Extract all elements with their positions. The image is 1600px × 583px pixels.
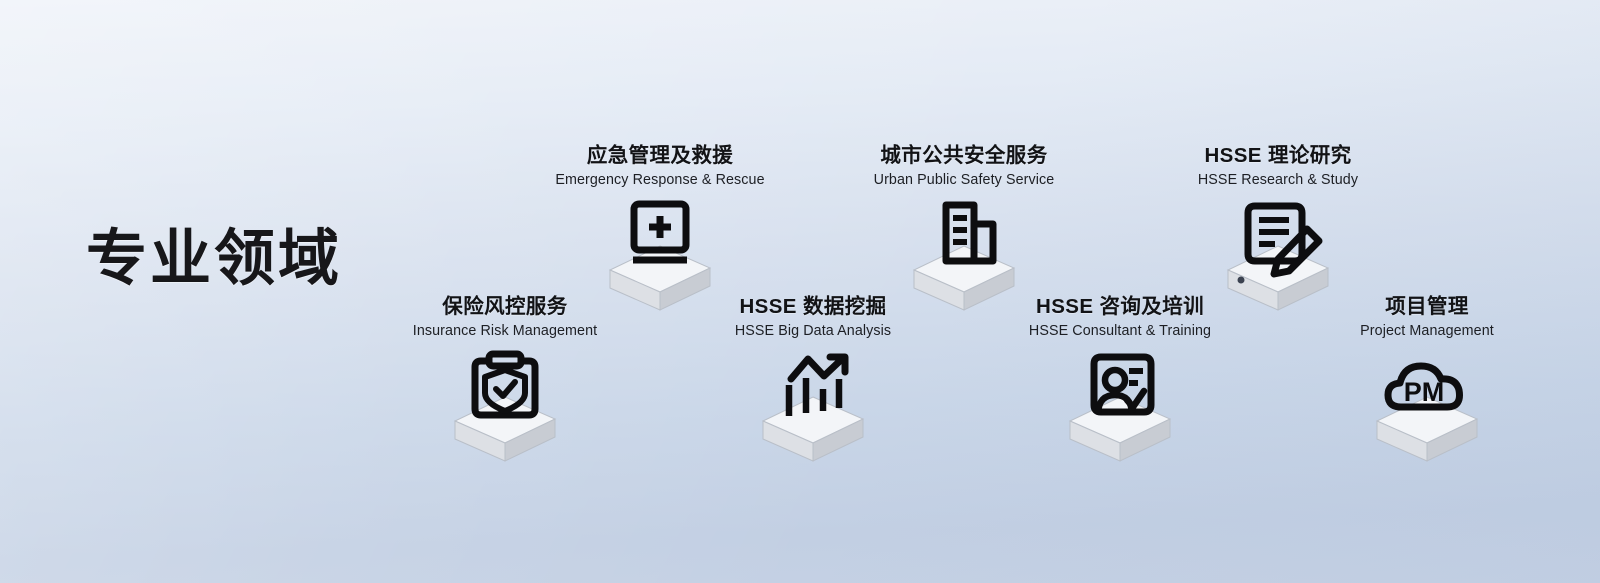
- domain-label-cn: HSSE 数据挖掘: [663, 295, 963, 319]
- domain-label-cn: 项目管理: [1277, 295, 1577, 319]
- domain-labels: HSSE 理论研究 HSSE Research & Study: [1128, 144, 1428, 190]
- trend-arrow-symbol: [791, 357, 845, 379]
- domain-labels: 项目管理 Project Management: [1277, 295, 1577, 341]
- domain-card-hsse-research-study[interactable]: HSSE 理论研究 HSSE Research & Study: [1128, 144, 1428, 310]
- first-aid-symbol: [634, 204, 686, 250]
- domain-label-en: HSSE Consultant & Training: [970, 322, 1270, 341]
- domain-card-urban-public-safety-service[interactable]: 城市公共安全服务 Urban Public Safety Service: [814, 144, 1114, 310]
- check-symbol: [1127, 391, 1144, 407]
- domain-card-hsse-consultant-training[interactable]: HSSE 咨询及培训 HSSE Consultant & Training: [970, 295, 1270, 461]
- domain-label-cn: HSSE 咨询及培训: [970, 295, 1270, 319]
- domain-label-en: Emergency Response & Rescue: [510, 171, 810, 190]
- domain-card-hsse-big-data-analysis[interactable]: HSSE 数据挖掘 HSSE Big Data Analysis: [663, 295, 963, 461]
- clipboard-shield-check-icon: [430, 353, 580, 461]
- domain-icon-wrap: [663, 353, 963, 461]
- domain-label-en: HSSE Research & Study: [1128, 171, 1428, 190]
- domain-icon-wrap: [970, 353, 1270, 461]
- domain-label-cn: 应急管理及救援: [510, 144, 810, 168]
- domain-labels: 保险风控服务 Insurance Risk Management: [355, 295, 655, 341]
- pedestal-shape: [455, 397, 555, 461]
- domain-label-en: Insurance Risk Management: [355, 322, 655, 341]
- page-title: 专业领域: [86, 228, 342, 289]
- cloud-pm-label: PM: [1404, 377, 1445, 407]
- domain-label-en: Urban Public Safety Service: [814, 171, 1114, 190]
- professional-domains-banner: 专业领域 应急管理及救援 Emergency Response & Rescue: [0, 0, 1600, 583]
- pedestal-shape: [763, 397, 863, 461]
- domain-labels: 应急管理及救援 Emergency Response & Rescue: [510, 144, 810, 190]
- domain-card-project-management[interactable]: 项目管理 Project Management PM: [1277, 295, 1577, 461]
- domain-card-emergency-response-rescue[interactable]: 应急管理及救援 Emergency Response & Rescue: [510, 144, 810, 310]
- pedestal-dot: [1238, 277, 1245, 284]
- domain-labels: 城市公共安全服务 Urban Public Safety Service: [814, 144, 1114, 190]
- id-card-person-check-icon: [1045, 353, 1195, 461]
- domain-labels: HSSE 咨询及培训 HSSE Consultant & Training: [970, 295, 1270, 341]
- bar-chart-trend-icon: [738, 353, 888, 461]
- domain-label-en: HSSE Big Data Analysis: [663, 322, 963, 341]
- domain-label-cn: HSSE 理论研究: [1128, 144, 1428, 168]
- pedestal-shape: [1070, 397, 1170, 461]
- domain-label-cn: 保险风控服务: [355, 295, 655, 319]
- cloud-pm-icon: PM: [1352, 353, 1502, 461]
- domain-icon-wrap: [355, 353, 655, 461]
- domain-icon-wrap: PM: [1277, 353, 1577, 461]
- domain-label-en: Project Management: [1277, 322, 1577, 341]
- domain-label-cn: 城市公共安全服务: [814, 144, 1114, 168]
- domain-labels: HSSE 数据挖掘 HSSE Big Data Analysis: [663, 295, 963, 341]
- domain-card-insurance-risk-management[interactable]: 保险风控服务 Insurance Risk Management: [355, 295, 655, 461]
